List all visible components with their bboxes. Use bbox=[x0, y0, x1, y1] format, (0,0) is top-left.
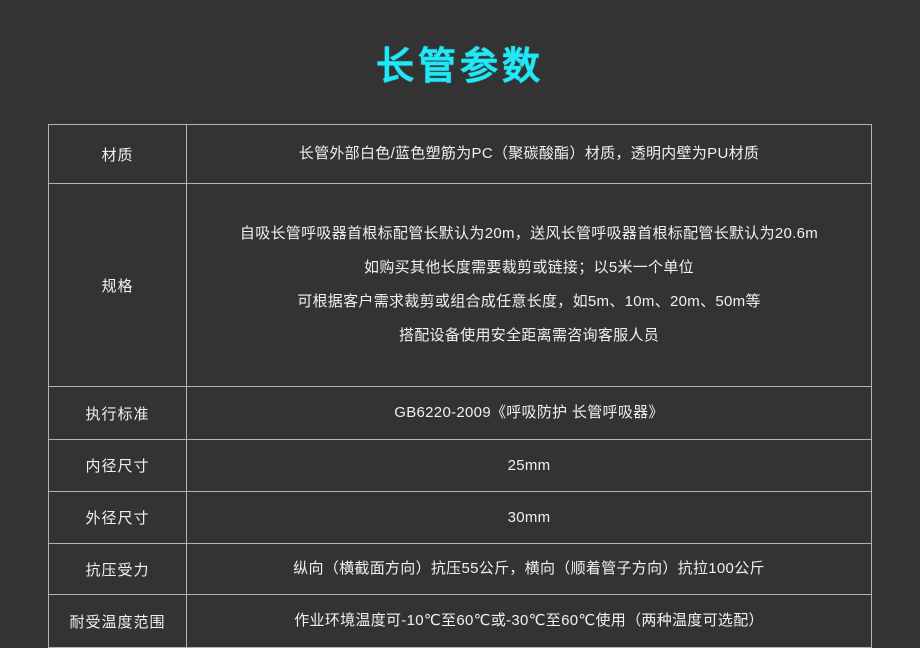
table-row: 执行标准 GB6220-2009《呼吸防护 长管呼吸器》 bbox=[49, 387, 872, 440]
value-line: 作业环境温度可-10℃至60℃或-30℃至60℃使用（两种温度可选配） bbox=[201, 604, 857, 638]
value-line: 30mm bbox=[201, 501, 857, 535]
value-line: 搭配设备使用安全距离需咨询客服人员 bbox=[201, 319, 857, 353]
table-row: 外径尺寸 30mm bbox=[49, 492, 872, 544]
row-value-outer-diameter: 30mm bbox=[187, 492, 872, 544]
row-label-temperature-range: 耐受温度范围 bbox=[49, 595, 187, 648]
row-value-inner-diameter: 25mm bbox=[187, 440, 872, 492]
table-row: 材质 长管外部白色/蓝色塑筋为PC（聚碳酸酯）材质，透明内壁为PU材质 bbox=[49, 125, 872, 184]
row-label-standard: 执行标准 bbox=[49, 387, 187, 440]
row-value-pressure-resistance: 纵向（横截面方向）抗压55公斤，横向（顺着管子方向）抗拉100公斤 bbox=[187, 544, 872, 595]
value-line: 如购买其他长度需要裁剪或链接；以5米一个单位 bbox=[201, 251, 857, 285]
page-title: 长管参数 bbox=[0, 0, 920, 86]
long-tube-parameters-table: 材质 长管外部白色/蓝色塑筋为PC（聚碳酸酯）材质，透明内壁为PU材质 规格 自… bbox=[48, 124, 872, 648]
row-value-temperature-range: 作业环境温度可-10℃至60℃或-30℃至60℃使用（两种温度可选配） bbox=[187, 595, 872, 648]
value-line: 长管外部白色/蓝色塑筋为PC（聚碳酸酯）材质，透明内壁为PU材质 bbox=[201, 137, 857, 171]
value-line: 纵向（横截面方向）抗压55公斤，横向（顺着管子方向）抗拉100公斤 bbox=[201, 552, 857, 586]
row-value-material: 长管外部白色/蓝色塑筋为PC（聚碳酸酯）材质，透明内壁为PU材质 bbox=[187, 125, 872, 184]
table-row: 规格 自吸长管呼吸器首根标配管长默认为20m，送风长管呼吸器首根标配管长默认为2… bbox=[49, 184, 872, 387]
table-row: 内径尺寸 25mm bbox=[49, 440, 872, 492]
table-row: 耐受温度范围 作业环境温度可-10℃至60℃或-30℃至60℃使用（两种温度可选… bbox=[49, 595, 872, 648]
row-label-outer-diameter: 外径尺寸 bbox=[49, 492, 187, 544]
product-spec-page: 长管参数 材质 长管外部白色/蓝色塑筋为PC（聚碳酸酯）材质，透明内壁为PU材质… bbox=[0, 0, 920, 648]
value-line: 自吸长管呼吸器首根标配管长默认为20m，送风长管呼吸器首根标配管长默认为20.6… bbox=[201, 217, 857, 251]
value-line: 25mm bbox=[201, 449, 857, 483]
row-label-pressure-resistance: 抗压受力 bbox=[49, 544, 187, 595]
table-row: 抗压受力 纵向（横截面方向）抗压55公斤，横向（顺着管子方向）抗拉100公斤 bbox=[49, 544, 872, 595]
row-value-specification: 自吸长管呼吸器首根标配管长默认为20m，送风长管呼吸器首根标配管长默认为20.6… bbox=[187, 184, 872, 387]
value-line: GB6220-2009《呼吸防护 长管呼吸器》 bbox=[201, 396, 857, 430]
row-label-inner-diameter: 内径尺寸 bbox=[49, 440, 187, 492]
row-value-standard: GB6220-2009《呼吸防护 长管呼吸器》 bbox=[187, 387, 872, 440]
row-label-material: 材质 bbox=[49, 125, 187, 184]
row-label-specification: 规格 bbox=[49, 184, 187, 387]
value-line: 可根据客户需求裁剪或组合成任意长度，如5m、10m、20m、50m等 bbox=[201, 285, 857, 319]
